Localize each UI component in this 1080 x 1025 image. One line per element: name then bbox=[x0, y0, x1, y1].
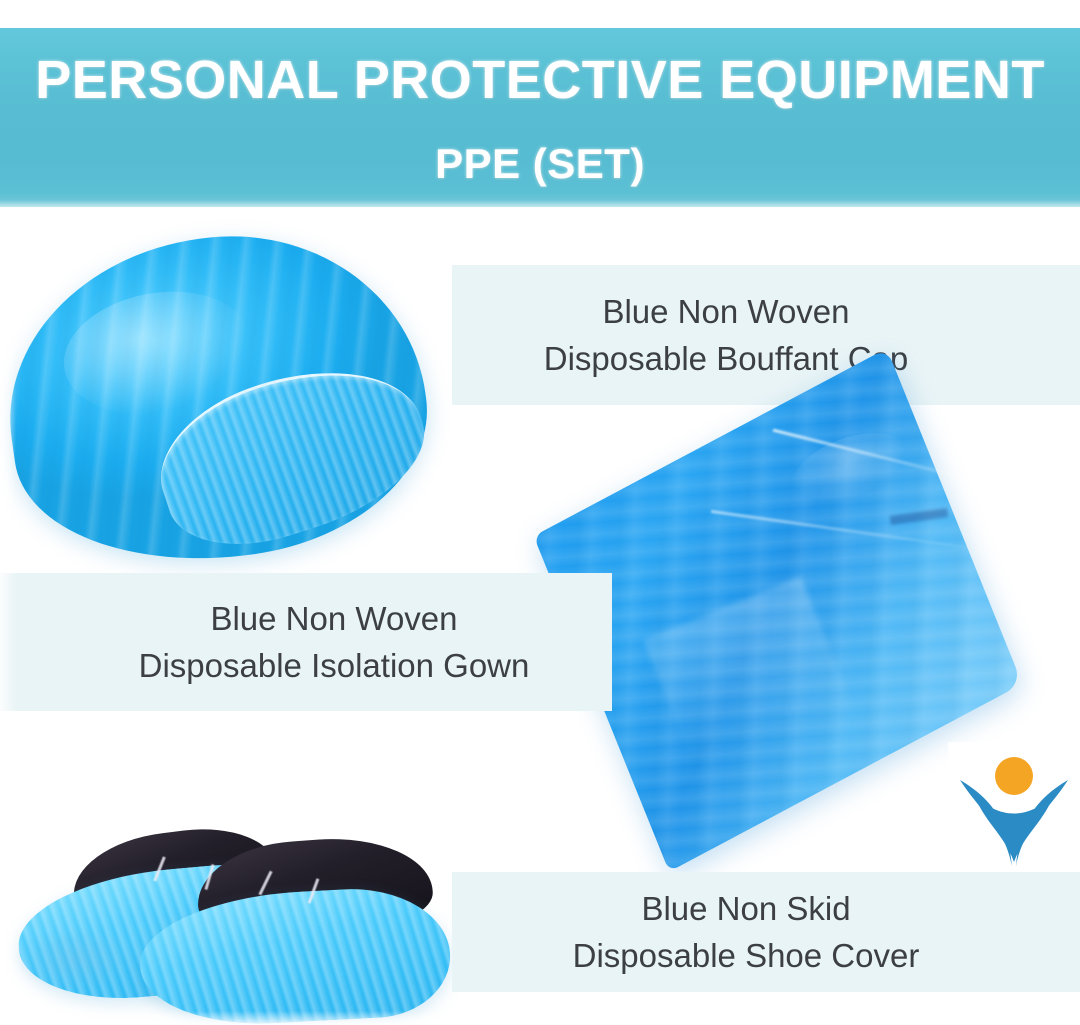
bouffant-cap-image bbox=[8, 238, 424, 558]
caption-bouffant-cap-line2: Disposable Bouffant Cap bbox=[452, 335, 1080, 382]
brand-logo bbox=[948, 742, 1080, 872]
logo-head-circle bbox=[995, 757, 1033, 795]
caption-panel-bouffant-cap: Blue Non Woven Disposable Bouffant Cap bbox=[452, 265, 1080, 405]
caption-isolation-gown-line2: Disposable Isolation Gown bbox=[0, 642, 612, 689]
header-banner: PERSONAL PROTECTIVE EQUIPMENT PPE (SET) bbox=[0, 28, 1080, 207]
human-figure-logo-icon bbox=[948, 742, 1080, 872]
caption-panel-isolation-gown: Blue Non Woven Disposable Isolation Gown bbox=[0, 573, 612, 711]
ppe-product-poster: PERSONAL PROTECTIVE EQUIPMENT PPE (SET) … bbox=[0, 0, 1080, 1025]
shoe-cover-image bbox=[12, 830, 442, 1025]
shoe-back-toe-shadow bbox=[14, 926, 134, 990]
poster-subtitle: PPE (SET) bbox=[0, 140, 1080, 188]
caption-isolation-gown-line1: Blue Non Woven bbox=[0, 595, 612, 642]
caption-shoe-cover-line2: Disposable Shoe Cover bbox=[452, 932, 1080, 979]
poster-title: PERSONAL PROTECTIVE EQUIPMENT bbox=[0, 50, 1080, 110]
top-white-strip bbox=[0, 0, 1080, 28]
caption-panel-shoe-cover: Blue Non Skid Disposable Shoe Cover bbox=[452, 872, 1080, 992]
caption-shoe-cover-line1: Blue Non Skid bbox=[452, 885, 1080, 932]
caption-bouffant-cap-line1: Blue Non Woven bbox=[452, 288, 1080, 335]
